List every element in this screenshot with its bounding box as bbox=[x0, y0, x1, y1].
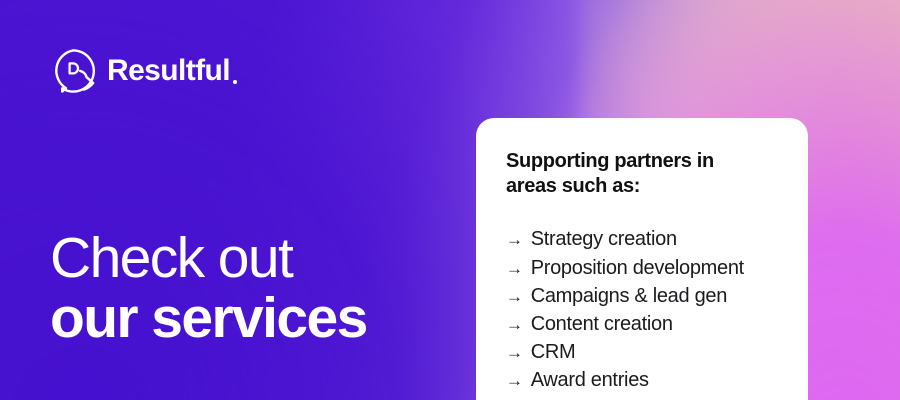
brand-wordmark-text: Resultful bbox=[107, 56, 230, 86]
list-item-label: Strategy creation bbox=[531, 225, 677, 253]
services-card: Supporting partners in areas such as: → … bbox=[476, 118, 808, 400]
services-list: → Strategy creation → Proposition develo… bbox=[506, 225, 780, 394]
list-item: → Award entries bbox=[506, 366, 780, 394]
promo-banner: Resultful Check out our services Support… bbox=[0, 0, 900, 400]
arrow-right-icon: → bbox=[506, 288, 523, 305]
arrow-right-icon: → bbox=[506, 316, 523, 333]
brand-wordmark: Resultful bbox=[107, 56, 237, 86]
list-item-label: Proposition development bbox=[531, 254, 744, 282]
list-item: → Proposition development bbox=[506, 254, 780, 282]
brand-logo[interactable]: Resultful bbox=[50, 48, 237, 94]
card-heading: Supporting partners in areas such as: bbox=[506, 149, 780, 199]
resultful-monogram-icon bbox=[50, 48, 96, 94]
headline-line-1: Check out bbox=[50, 228, 367, 288]
arrow-right-icon: → bbox=[506, 344, 523, 361]
brand-wordmark-dot bbox=[233, 80, 237, 84]
list-item-label: Content creation bbox=[531, 310, 673, 338]
headline-line-2: our services bbox=[50, 288, 367, 348]
list-item: → Strategy creation bbox=[506, 225, 780, 253]
list-item: → Content creation bbox=[506, 310, 780, 338]
arrow-right-icon: → bbox=[506, 231, 523, 248]
list-item: → Campaigns & lead gen bbox=[506, 282, 780, 310]
arrow-right-icon: → bbox=[506, 372, 523, 389]
list-item-label: CRM bbox=[531, 338, 576, 366]
list-item-label: Campaigns & lead gen bbox=[531, 282, 727, 310]
list-item: → CRM bbox=[506, 338, 780, 366]
list-item-label: Award entries bbox=[531, 366, 649, 394]
arrow-right-icon: → bbox=[506, 260, 523, 277]
headline: Check out our services bbox=[50, 228, 367, 349]
